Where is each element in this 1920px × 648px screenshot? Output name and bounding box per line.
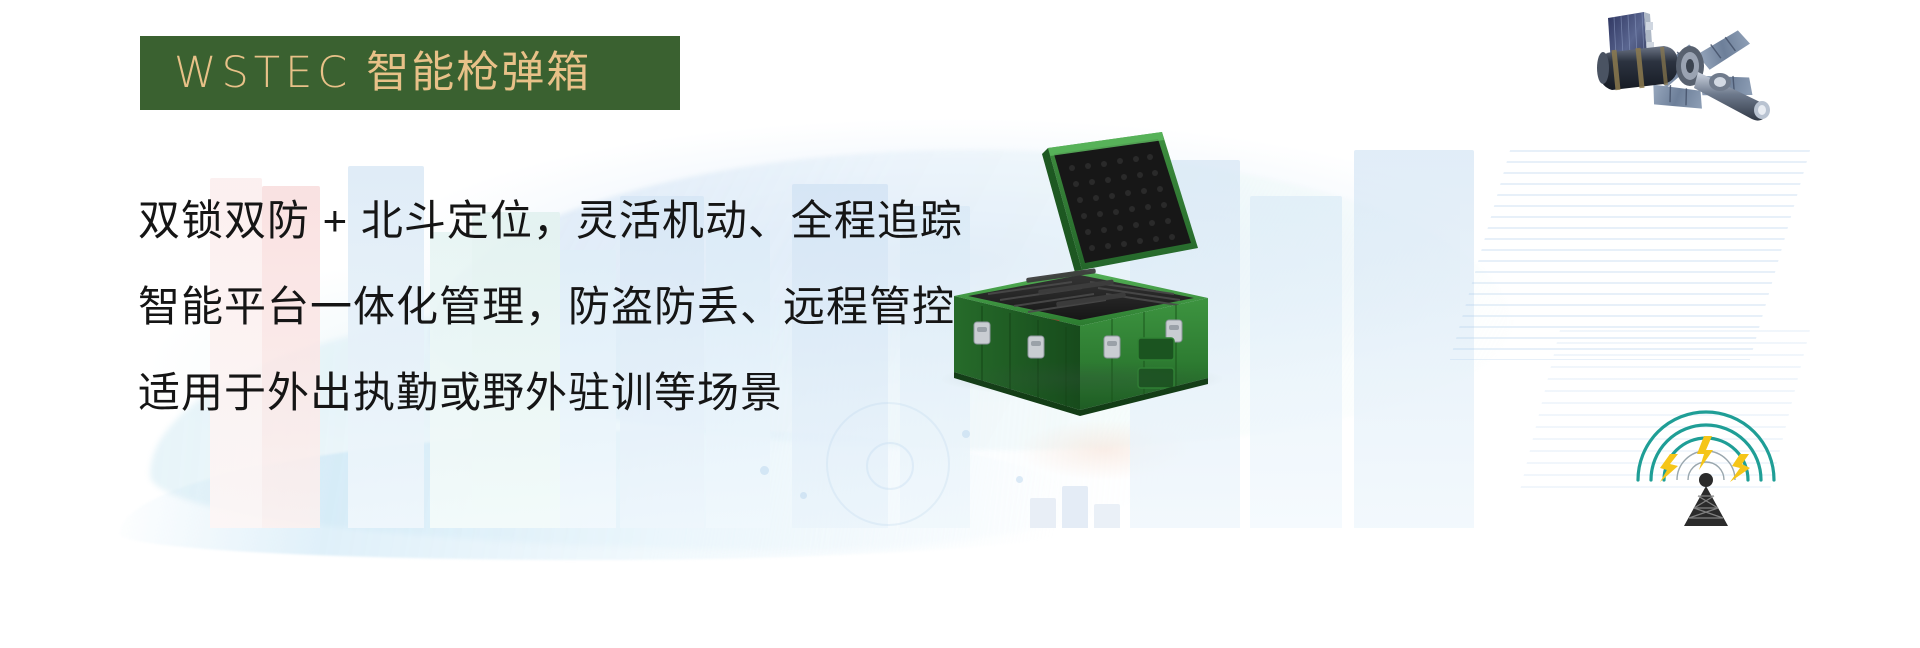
banner-title: WSTEC智能枪弹箱 [174, 52, 591, 95]
satellite-icon [1594, 6, 1798, 142]
feature-line: 适用于外出执勤或野外驻训等场景 [138, 350, 968, 436]
backdrop-dot [1016, 476, 1023, 483]
backdrop-dot [800, 492, 807, 499]
feature-line: 智能平台一体化管理，防盗防丢、远程管控 [138, 264, 968, 350]
brand-name: WSTEC [174, 48, 352, 98]
title-chinese: 智能枪弹箱 [366, 49, 591, 97]
lightning-bolt-icon [1697, 436, 1713, 470]
weapon-case-illustration [930, 110, 1270, 450]
green-weapon-case-image [930, 110, 1270, 450]
backdrop-hatch-lines [1450, 150, 1810, 360]
backdrop-building [1354, 150, 1474, 528]
case-lid [1042, 132, 1198, 276]
promo-banner: WSTEC智能枪弹箱 双锁双防 + 北斗定位，灵活机动、全程追踪 智能平台一体化… [0, 0, 1920, 648]
signal-tower-icon [1618, 358, 1794, 526]
feature-copy-block: 双锁双防 + 北斗定位，灵活机动、全程追踪 智能平台一体化管理，防盗防丢、远程管… [138, 178, 968, 436]
backdrop-chart-bar [1030, 498, 1056, 528]
backdrop-ring [866, 442, 914, 490]
title-plaque: WSTEC智能枪弹箱 [140, 36, 680, 110]
backdrop-chart-bar [1062, 486, 1088, 528]
satellite-illustration [1594, 6, 1798, 142]
backdrop-chart-bar [1094, 504, 1120, 528]
backdrop-dot [760, 466, 769, 475]
case-shadow [942, 362, 1222, 396]
feature-line: 双锁双防 + 北斗定位，灵活机动、全程追踪 [138, 178, 968, 264]
signal-tower-illustration [1618, 358, 1794, 526]
lightning-bolt-icon [1660, 454, 1678, 482]
